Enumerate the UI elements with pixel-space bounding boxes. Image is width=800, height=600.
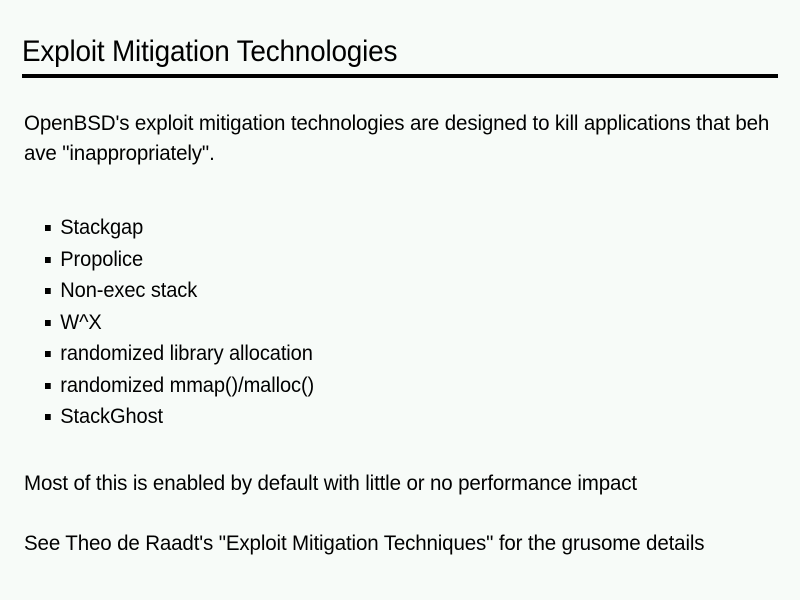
list-item-label: W^X <box>60 311 101 334</box>
square-bullet-icon <box>45 320 51 326</box>
list-item-label: Non-exec stack <box>60 279 197 302</box>
list-item-label: Stackgap <box>60 216 143 239</box>
list-item: Propolice <box>45 244 714 276</box>
list-item-label: randomized mmap()/malloc() <box>60 374 314 397</box>
list-item: W^X <box>45 307 714 339</box>
list-item: Non-exec stack <box>45 275 714 307</box>
square-bullet-icon <box>45 383 51 389</box>
list-item-label: Propolice <box>60 248 143 271</box>
closing-paragraph: Most of this is enabled by default with … <box>24 468 778 498</box>
list-item: StackGhost <box>45 401 714 433</box>
page-title: Exploit Mitigation Technologies <box>22 36 725 68</box>
title-block: Exploit Mitigation Technologies <box>22 36 778 68</box>
square-bullet-icon <box>45 414 51 420</box>
list-item-label: StackGhost <box>60 405 163 428</box>
square-bullet-icon <box>45 288 51 294</box>
list-item-label: randomized library allocation <box>60 342 313 365</box>
title-underline-rule <box>22 74 778 78</box>
slide-canvas: Exploit Mitigation Technologies OpenBSD'… <box>0 0 800 600</box>
square-bullet-icon <box>45 225 51 231</box>
slide-body: OpenBSD's exploit mitigation technologie… <box>24 108 780 168</box>
square-bullet-icon <box>45 351 51 357</box>
square-bullet-icon <box>45 257 51 263</box>
list-item: randomized library allocation <box>45 338 714 370</box>
intro-paragraph: OpenBSD's exploit mitigation technologie… <box>24 108 775 168</box>
reference-paragraph: See Theo de Raadt's "Exploit Mitigation … <box>24 528 771 558</box>
mitigation-list: Stackgap Propolice Non-exec stack W^X ra… <box>45 212 745 433</box>
list-item: Stackgap <box>45 212 714 244</box>
list-item: randomized mmap()/malloc() <box>45 370 714 402</box>
